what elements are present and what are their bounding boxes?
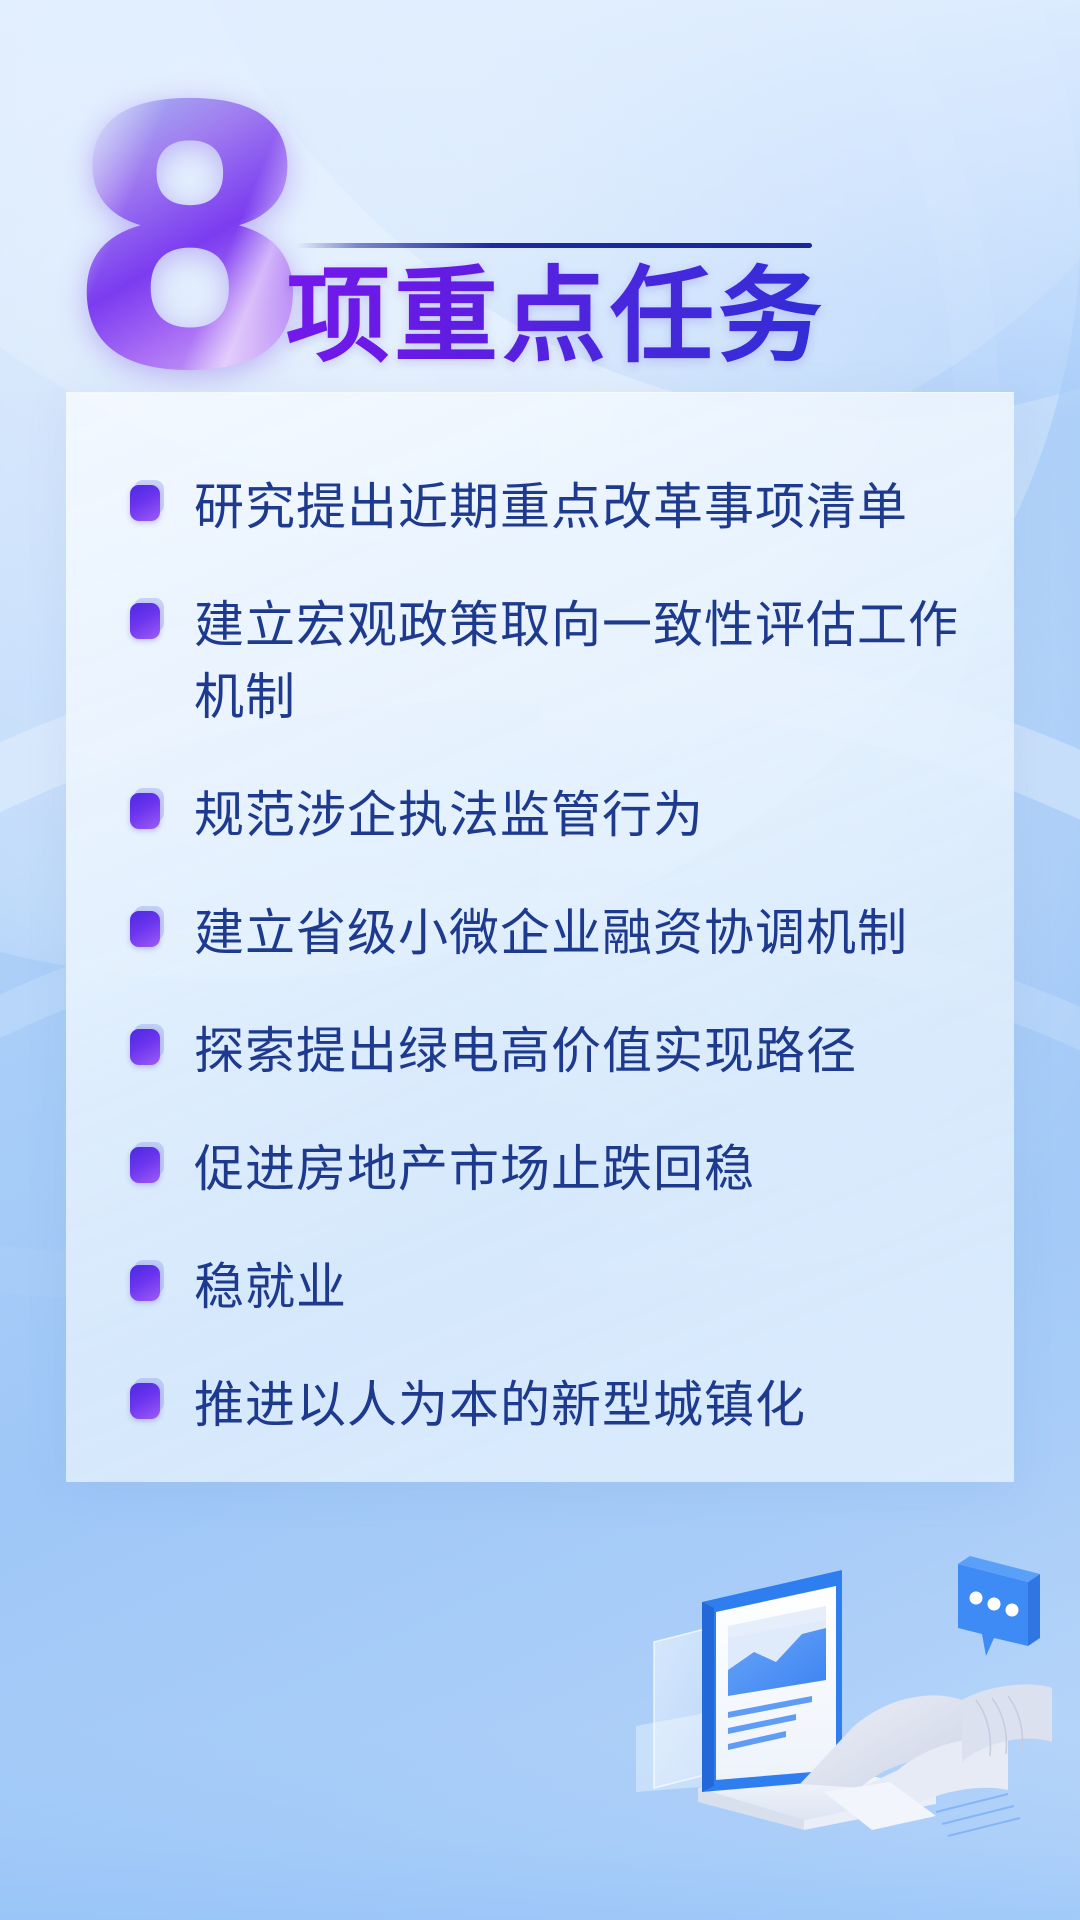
bullet-square-icon (130, 1265, 168, 1305)
big-number-8: 8 (62, 96, 312, 386)
task-item: 探索提出绿电高价值实现路径 (106, 1015, 974, 1089)
task-item-label: 探索提出绿电高价值实现路径 (194, 1015, 857, 1087)
illustration-laptop-screen (702, 1570, 842, 1792)
bullet-square-icon (130, 1029, 168, 1069)
task-item-label: 规范涉企执法监管行为 (194, 779, 704, 851)
bullet-square-icon (130, 1383, 168, 1423)
task-item: 规范涉企执法监管行为 (106, 779, 974, 853)
bullet-square-icon (130, 603, 168, 643)
task-item-label: 建立省级小微企业融资协调机制 (194, 897, 908, 969)
task-item-label: 稳就业 (194, 1251, 347, 1323)
task-item: 研究提出近期重点改革事项清单 (106, 471, 974, 545)
task-item-label: 研究提出近期重点改革事项清单 (194, 471, 908, 543)
bullet-square-icon (130, 485, 168, 525)
task-item-label: 推进以人为本的新型城镇化 (194, 1369, 806, 1441)
page-title: 项重点任务 (286, 262, 826, 370)
illustration-laptop-chart-book-chat (636, 1530, 1056, 1860)
task-item: 促进房地产市场止跌回稳 (106, 1133, 974, 1207)
title-rule (296, 243, 812, 248)
bullet-square-icon (130, 1147, 168, 1187)
poster-header: 8 8 项重点任务 (0, 0, 1080, 400)
task-item: 建立宏观政策取向一致性评估工作机制 (106, 589, 974, 733)
bullet-square-icon (130, 911, 168, 951)
task-item-label: 建立宏观政策取向一致性评估工作机制 (194, 589, 974, 733)
bullet-square-icon (130, 793, 168, 833)
task-item-label: 促进房地产市场止跌回稳 (194, 1133, 755, 1205)
task-item: 推进以人为本的新型城镇化 (106, 1369, 974, 1443)
task-item: 建立省级小微企业融资协调机制 (106, 897, 974, 971)
illustration-chat-bubble (958, 1556, 1040, 1656)
tasks-card: 研究提出近期重点改革事项清单建立宏观政策取向一致性评估工作机制规范涉企执法监管行… (66, 392, 1014, 1482)
task-item: 稳就业 (106, 1251, 974, 1325)
tasks-list: 研究提出近期重点改革事项清单建立宏观政策取向一致性评估工作机制规范涉企执法监管行… (66, 393, 1014, 1487)
